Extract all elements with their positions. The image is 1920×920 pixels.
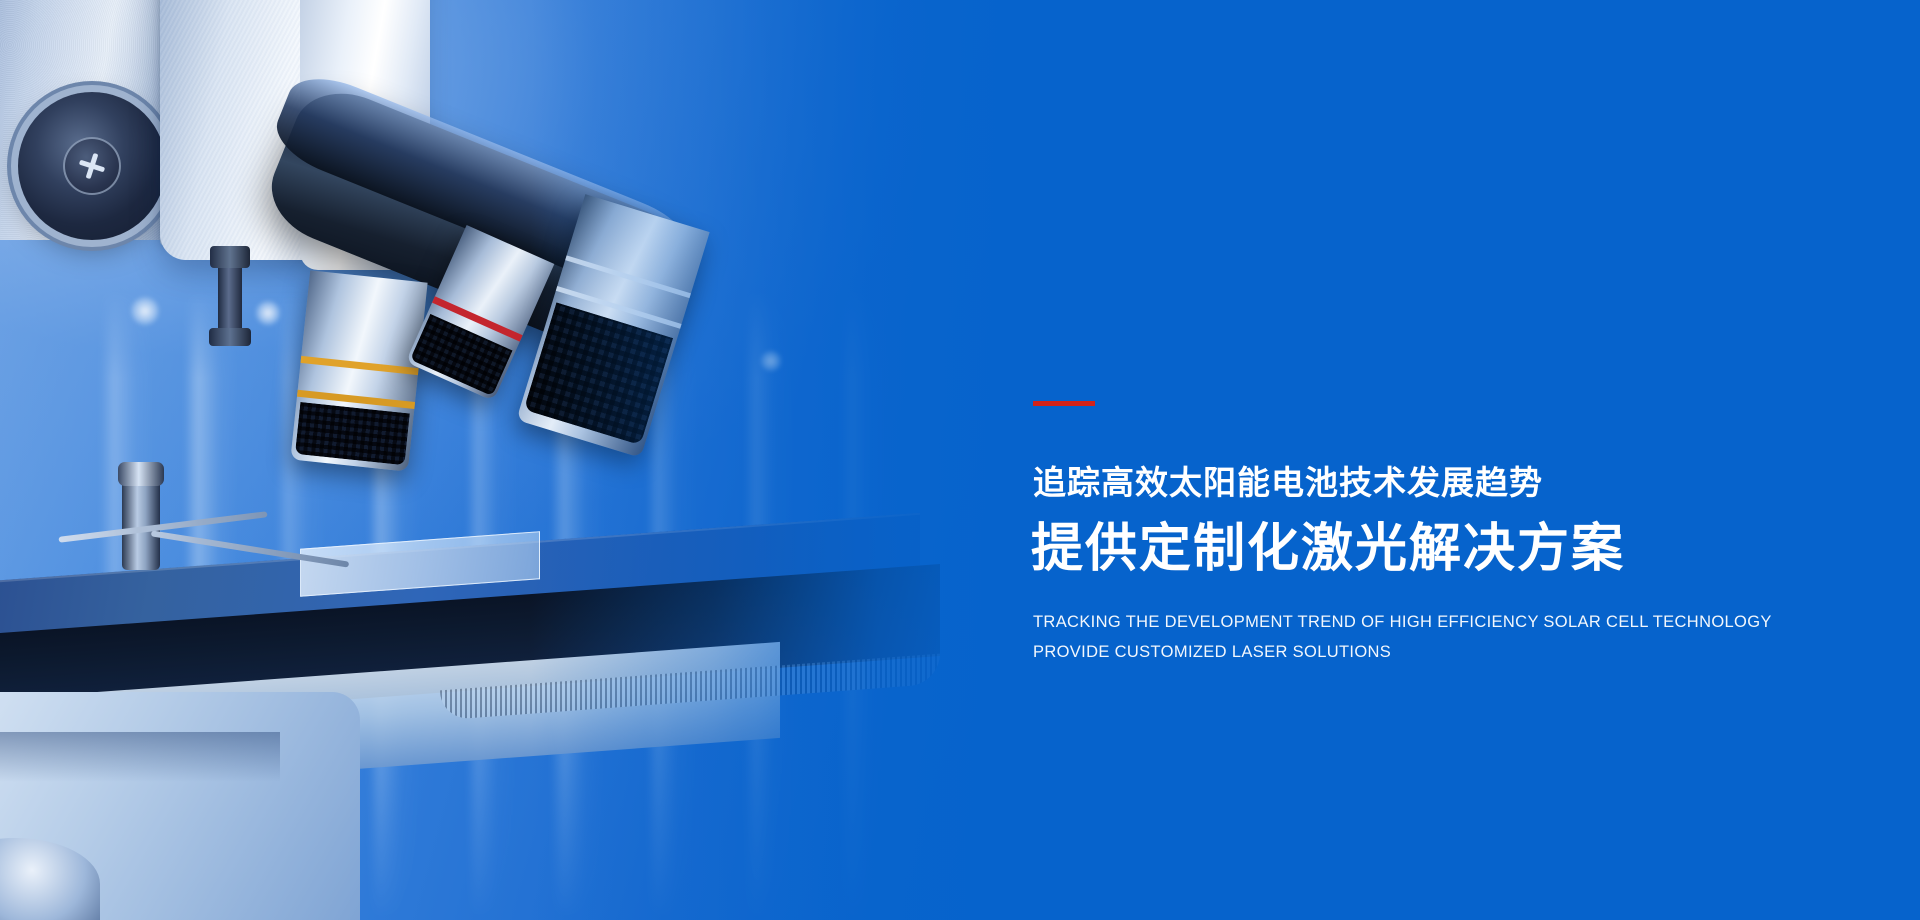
banner-subtitle-line-2: PROVIDE CUSTOMIZED LASER SOLUTIONS bbox=[1033, 643, 1920, 662]
hero-banner: 追踪高效太阳能电池技术发展趋势 提供定制化激光解决方案 TRACKING THE… bbox=[0, 0, 1920, 920]
banner-subtitle-line-1: TRACKING THE DEVELOPMENT TREND OF HIGH E… bbox=[1033, 613, 1920, 632]
banner-headline: 提供定制化激光解决方案 bbox=[1031, 518, 1891, 580]
banner-content: 追踪高效太阳能电池技术发展趋势 提供定制化激光解决方案 TRACKING THE… bbox=[1033, 0, 1893, 920]
banner-kicker: 追踪高效太阳能电池技术发展趋势 bbox=[1033, 464, 1893, 502]
microscope-hero-image bbox=[0, 0, 1020, 920]
photo-fade-overlay bbox=[0, 0, 1020, 920]
accent-rule bbox=[1033, 401, 1095, 406]
